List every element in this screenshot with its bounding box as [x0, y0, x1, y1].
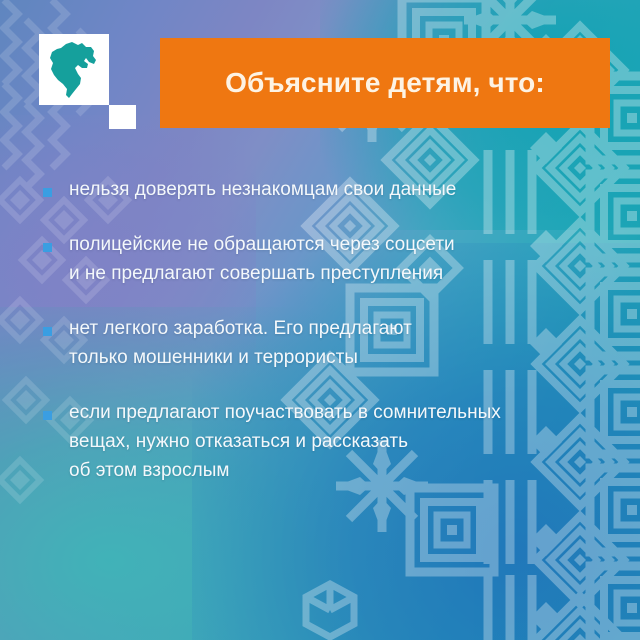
list-item-text: полицейские не обращаются через соцсети …	[69, 230, 600, 288]
list-item: если предлагают поучаствовать в сомнител…	[43, 398, 600, 485]
list-item-line: нет легкого заработка. Его предлагают	[69, 314, 600, 343]
list-item-text: если предлагают поучаствовать в сомнител…	[69, 398, 600, 485]
square-bullet-icon	[43, 243, 52, 252]
list-item-text: нет легкого заработка. Его предлагают то…	[69, 314, 600, 372]
belarus-map-icon	[48, 42, 101, 98]
header-banner: Объясните детям, что:	[160, 38, 610, 128]
list-item-line: только мошенники и террористы	[69, 343, 600, 372]
square-bullet-icon	[43, 188, 52, 197]
list-item-line: полицейские не обращаются через соцсети	[69, 230, 600, 259]
list-item-text: нельзя доверять незнакомцам свои данные	[69, 175, 600, 204]
list-item: нельзя доверять незнакомцам свои данные	[43, 175, 600, 204]
list-item-line: и не предлагают совершать преступления	[69, 259, 600, 288]
list-item: нет легкого заработка. Его предлагают то…	[43, 314, 600, 372]
advice-list: нельзя доверять незнакомцам свои данные …	[43, 175, 600, 485]
list-item-line: об этом взрослым	[69, 456, 600, 485]
logo-white-square-small	[109, 105, 136, 129]
logo	[39, 34, 136, 129]
list-item-line: вещах, нужно отказаться и рассказать	[69, 427, 600, 456]
poster-canvas: Объясните детям, что: нельзя доверять не…	[0, 0, 640, 640]
list-item-line: нельзя доверять незнакомцам свои данные	[69, 175, 600, 204]
list-item: полицейские не обращаются через соцсети …	[43, 230, 600, 288]
list-item-line: если предлагают поучаствовать в сомнител…	[69, 398, 600, 427]
page-title: Объясните детям, что:	[225, 69, 545, 97]
square-bullet-icon	[43, 411, 52, 420]
square-bullet-icon	[43, 327, 52, 336]
